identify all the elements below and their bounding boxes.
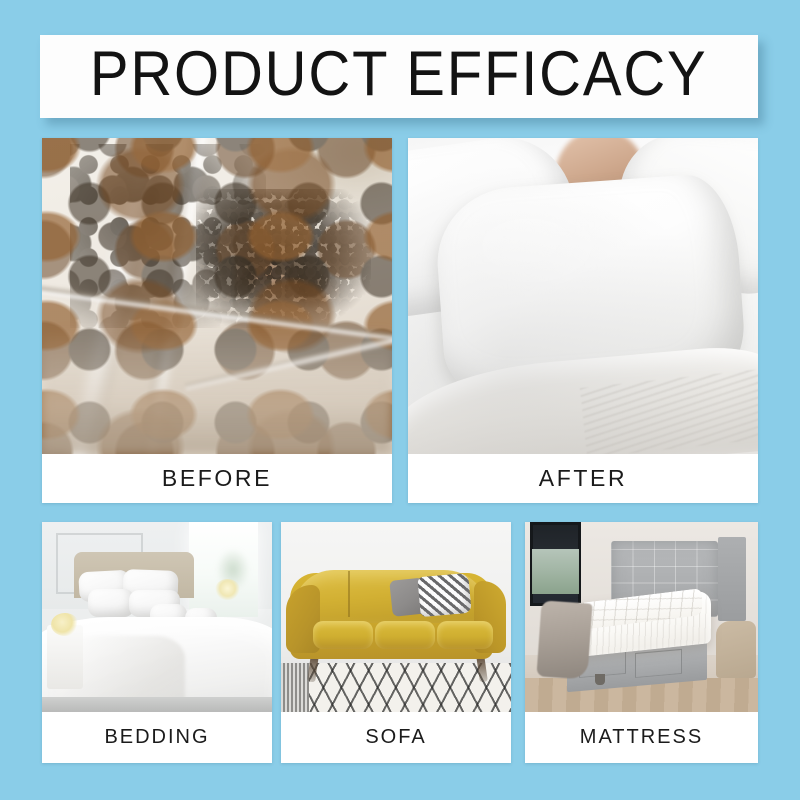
mattress-divan-drawer [635,649,682,678]
sofa-seat-cushion [437,621,492,650]
bedding-caption-label: BEDDING [104,726,209,749]
after-soft-shadow [408,138,758,454]
sofa-caption-label: SOFA [365,726,426,749]
sofa-photo [281,522,511,712]
bedding-photo [42,522,272,712]
page-title: PRODUCT EFFICACY [90,43,708,110]
panel-mattress[interactable]: MATTRESS [525,522,758,763]
sofa-seat-cushion [375,621,435,650]
mattress-photo [525,522,758,712]
mattress-caption-band: MATTRESS [525,712,758,763]
panel-bedding[interactable]: BEDDING [42,522,272,763]
sofa-seat-cushion [313,621,373,650]
mattress-armchair [716,621,756,678]
mattress-headboard-side-panel [718,537,746,621]
panel-sofa[interactable]: SOFA [281,522,511,763]
sofa-caption-band: SOFA [281,712,511,763]
panel-after[interactable]: AFTER [408,138,758,503]
title-banner: PRODUCT EFFICACY [40,35,758,118]
sofa-floor-left-strip [281,663,309,712]
mattress-bed-foot [595,674,605,685]
panel-before[interactable]: BEFORE [42,138,392,503]
after-caption-band: AFTER [408,454,758,503]
after-caption-label: AFTER [539,465,627,492]
before-caption-band: BEFORE [42,454,392,503]
before-caption-label: BEFORE [162,465,272,492]
mattress-throw-blanket [536,600,592,679]
sofa-backrest-seam [348,571,350,617]
mattress-caption-label: MATTRESS [580,726,703,749]
before-shadow-lower [42,328,392,454]
bedding-flowers-left [51,613,79,636]
sofa-cushion-patterned [417,573,471,617]
before-photo [42,138,392,454]
bedding-flowers-right [215,579,240,600]
product-efficacy-poster: PRODUCT EFFICACY BEFORE [0,0,800,800]
bedding-pillow [88,589,134,618]
after-photo [408,138,758,454]
bedding-floor [42,697,272,712]
bedding-caption-band: BEDDING [42,712,272,763]
mattress-window-pane [532,549,579,595]
